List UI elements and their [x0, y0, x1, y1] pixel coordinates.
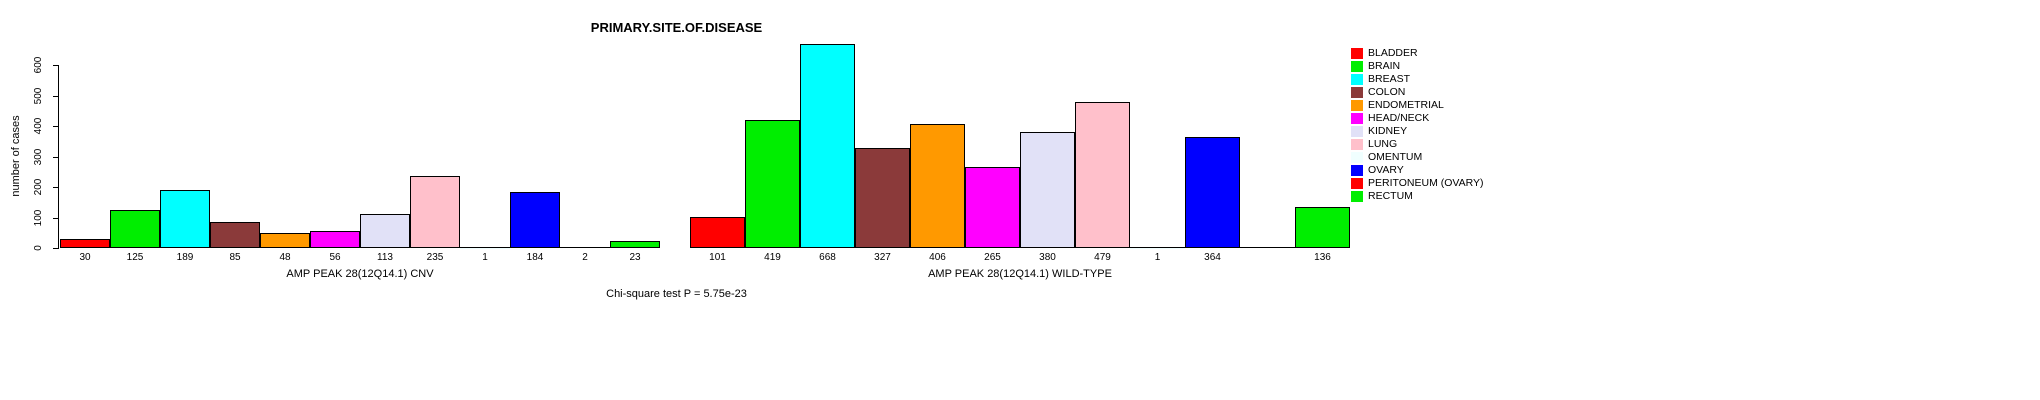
bar[interactable] — [160, 190, 210, 248]
bar-slot — [1240, 30, 1295, 248]
y-tick — [53, 248, 59, 249]
legend-label: PERITONEUM (OVARY) — [1368, 178, 1484, 189]
x-tick-label: 235 — [410, 252, 460, 263]
legend-swatch-icon — [1351, 61, 1363, 72]
legend-swatch-icon — [1351, 139, 1363, 150]
x-tick-label: 30 — [60, 252, 110, 263]
x-axis-line — [690, 247, 1350, 248]
y-tick — [53, 187, 59, 188]
bar-slot — [1075, 30, 1130, 248]
x-axis-line — [60, 247, 660, 248]
bar-slot — [310, 30, 360, 248]
bar-slot — [60, 30, 110, 248]
x-tick-label: 1 — [460, 252, 510, 263]
y-tick — [53, 157, 59, 158]
x-tick-label: 327 — [855, 252, 910, 263]
bar-slot — [800, 30, 855, 248]
plot-panel-1 — [60, 30, 660, 248]
y-tick — [53, 65, 59, 66]
bar[interactable] — [510, 192, 560, 248]
x-tick-label: 668 — [800, 252, 855, 263]
legend-item[interactable]: KIDNEY — [1351, 125, 1484, 138]
legend-item[interactable]: COLON — [1351, 86, 1484, 99]
bar[interactable] — [1075, 102, 1130, 248]
legend-label: COLON — [1368, 87, 1405, 98]
plot-panel-2 — [690, 30, 1350, 248]
bar-slot — [160, 30, 210, 248]
y-tick-label: 200 — [28, 182, 50, 192]
bar[interactable] — [800, 44, 855, 248]
x-tick-label: 125 — [110, 252, 160, 263]
bar-slot — [410, 30, 460, 248]
legend-label: OMENTUM — [1368, 152, 1422, 163]
bar-slot — [560, 30, 610, 248]
y-tick — [53, 218, 59, 219]
legend-label: ENDOMETRIAL — [1368, 100, 1444, 111]
x-tick-label: 406 — [910, 252, 965, 263]
x-tick-label: 479 — [1075, 252, 1130, 263]
bar-slot — [1185, 30, 1240, 248]
bar-slot — [460, 30, 510, 248]
legend-item[interactable]: OMENTUM — [1351, 151, 1484, 164]
x-tick-label: 23 — [610, 252, 660, 263]
y-axis-title: number of cases — [10, 96, 22, 216]
y-tick-label: 100 — [28, 213, 50, 223]
x-tick-label: 189 — [160, 252, 210, 263]
bar-slot — [510, 30, 560, 248]
legend-item[interactable]: BREAST — [1351, 73, 1484, 86]
legend-swatch-icon — [1351, 113, 1363, 124]
bar[interactable] — [110, 210, 160, 248]
legend-label: RECTUM — [1368, 191, 1413, 202]
bar[interactable] — [965, 167, 1020, 248]
bar-slot — [1130, 30, 1185, 248]
y-tick-label: 500 — [28, 91, 50, 101]
bar-slot — [965, 30, 1020, 248]
legend-label: LUNG — [1368, 139, 1397, 150]
legend-swatch-icon — [1351, 100, 1363, 111]
x-tick-label: 380 — [1020, 252, 1075, 263]
bar-slot — [690, 30, 745, 248]
bar-slot — [260, 30, 310, 248]
legend-label: OVARY — [1368, 165, 1404, 176]
x-tick-label: 113 — [360, 252, 410, 263]
y-tick — [53, 126, 59, 127]
legend-item[interactable]: BLADDER — [1351, 47, 1484, 60]
y-tick-label: 0 — [28, 243, 50, 253]
x-tick-label: 364 — [1185, 252, 1240, 263]
y-tick-label: 300 — [28, 152, 50, 162]
legend-label: KIDNEY — [1368, 126, 1407, 137]
x-tick-label: 265 — [965, 252, 1020, 263]
bar[interactable] — [260, 233, 310, 248]
legend-swatch-icon — [1351, 178, 1363, 189]
x-tick-label: 2 — [560, 252, 610, 263]
bar[interactable] — [310, 231, 360, 248]
x-tick-label: 184 — [510, 252, 560, 263]
footer-note: Chi-square test P = 5.75e-23 — [0, 288, 1353, 300]
bar-slot — [855, 30, 910, 248]
legend: BLADDERBRAINBREASTCOLONENDOMETRIALHEAD/N… — [1351, 47, 1484, 203]
legend-item[interactable]: PERITONEUM (OVARY) — [1351, 177, 1484, 190]
bar[interactable] — [410, 176, 460, 248]
legend-swatch-icon — [1351, 74, 1363, 85]
bar[interactable] — [910, 124, 965, 248]
bar[interactable] — [1020, 132, 1075, 248]
bar-slot — [210, 30, 260, 248]
x-tick-label: 48 — [260, 252, 310, 263]
legend-item[interactable]: OVARY — [1351, 164, 1484, 177]
x-tick-label: 1 — [1130, 252, 1185, 263]
bar[interactable] — [690, 217, 745, 248]
bar-slot — [1295, 30, 1350, 248]
bar-slot — [910, 30, 965, 248]
legend-swatch-icon — [1351, 191, 1363, 202]
legend-swatch-icon — [1351, 126, 1363, 137]
y-tick — [53, 96, 59, 97]
x-tick-label: 56 — [310, 252, 360, 263]
bar[interactable] — [745, 120, 800, 248]
bar-slot — [110, 30, 160, 248]
legend-label: BRAIN — [1368, 61, 1400, 72]
x-tick-label: 419 — [745, 252, 800, 263]
bar[interactable] — [210, 222, 260, 248]
chart-canvas: PRIMARY.SITE.OF.DISEASE number of cases … — [0, 0, 2040, 400]
bar-group — [690, 30, 1350, 248]
legend-item[interactable]: LUNG — [1351, 138, 1484, 151]
legend-label: BREAST — [1368, 74, 1410, 85]
legend-swatch-icon — [1351, 165, 1363, 176]
bar[interactable] — [1185, 137, 1240, 248]
legend-item[interactable]: ENDOMETRIAL — [1351, 99, 1484, 112]
x-tick-label: 136 — [1295, 252, 1350, 263]
y-tick-label: 600 — [28, 60, 50, 70]
x-tick-label: 85 — [210, 252, 260, 263]
x-axis-title: AMP PEAK 28(12Q14.1) WILD-TYPE — [690, 268, 1350, 280]
x-tick-label: 101 — [690, 252, 745, 263]
bar[interactable] — [360, 214, 410, 248]
bar[interactable] — [855, 148, 910, 248]
bar-slot — [1020, 30, 1075, 248]
bar[interactable] — [1295, 207, 1350, 248]
bar-group — [60, 30, 660, 248]
legend-label: HEAD/NECK — [1368, 113, 1429, 124]
legend-swatch-icon — [1351, 87, 1363, 98]
legend-item[interactable]: BRAIN — [1351, 60, 1484, 73]
x-axis-title: AMP PEAK 28(12Q14.1) CNV — [60, 268, 660, 280]
legend-swatch-icon — [1351, 48, 1363, 59]
legend-item[interactable]: RECTUM — [1351, 190, 1484, 203]
y-tick-label: 400 — [28, 121, 50, 131]
legend-swatch-icon — [1351, 152, 1363, 163]
bar-slot — [610, 30, 660, 248]
legend-item[interactable]: HEAD/NECK — [1351, 112, 1484, 125]
bar-slot — [360, 30, 410, 248]
legend-label: BLADDER — [1368, 48, 1418, 59]
bar-slot — [745, 30, 800, 248]
